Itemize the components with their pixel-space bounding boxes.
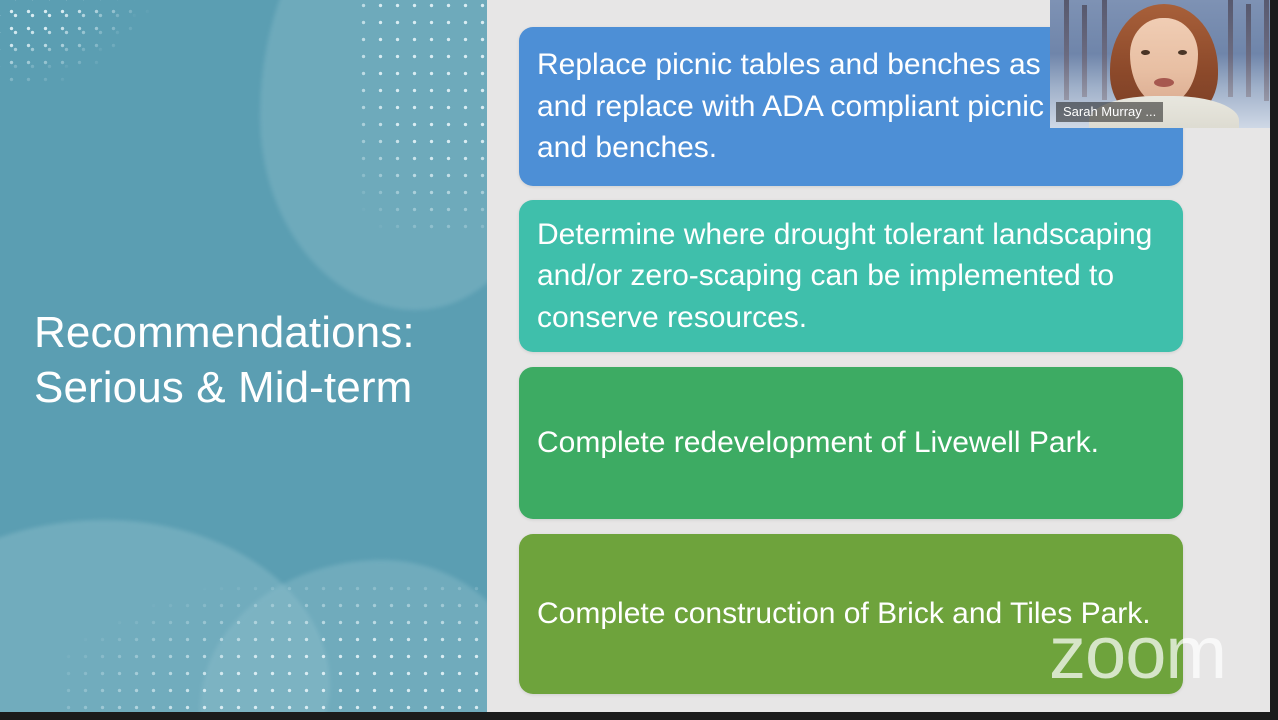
slide-left-panel: Recommendations: Serious & Mid-term [0,0,487,712]
tree-icon [1082,5,1087,97]
zoom-screen-share-viewport: Recommendations: Serious & Mid-term Repl… [0,0,1278,720]
recommendation-card: Determine where drought tolerant landsca… [519,200,1183,352]
recommendation-card-text: Determine where drought tolerant landsca… [537,214,1165,338]
window-frame-right [1270,0,1278,720]
decorative-dot-pattern-top-left [0,0,165,105]
tree-icon [1246,4,1251,97]
participant-video-thumbnail[interactable]: Sarah Murray ... [1050,0,1278,128]
zoom-watermark: zoom [1049,616,1226,690]
mouth-shape [1154,78,1174,87]
eye-shape [1178,50,1187,55]
participant-name-label: Sarah Murray ... [1056,102,1163,122]
recommendation-card-text: Complete redevelopment of Livewell Park. [537,422,1099,463]
tree-icon [1064,0,1069,100]
eye-shape [1141,50,1150,55]
recommendation-card: Complete redevelopment of Livewell Park. [519,367,1183,519]
decorative-dot-pattern-bottom-left [60,580,487,712]
slide-title: Recommendations: Serious & Mid-term [34,305,464,415]
decorative-dot-pattern-top-right [355,0,487,230]
window-frame-bottom [0,712,1278,720]
tree-icon [1264,0,1269,101]
